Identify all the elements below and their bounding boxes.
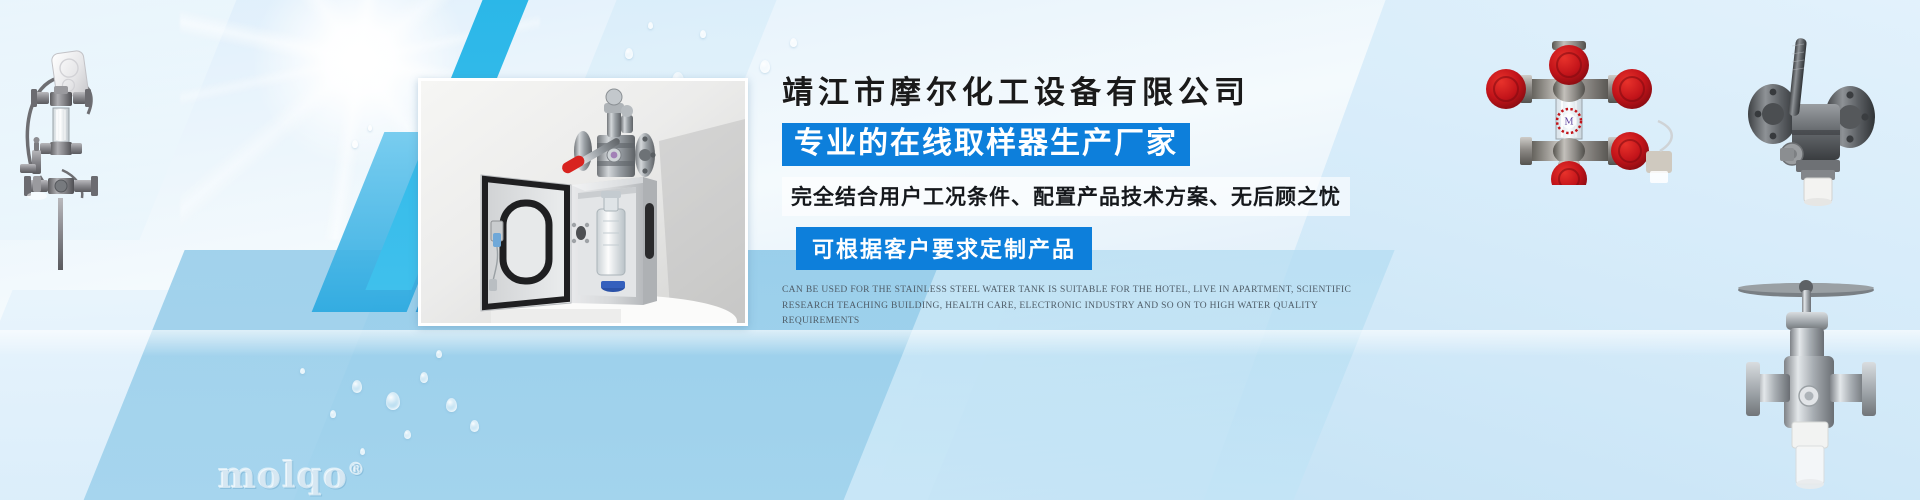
right-valve-gate-image bbox=[1706, 258, 1916, 496]
right-valve-lever-image bbox=[1700, 22, 1915, 212]
pale-panel-lower-b bbox=[0, 330, 940, 500]
watermark-text: molqo bbox=[218, 455, 348, 497]
water-droplet bbox=[700, 30, 706, 38]
water-droplet bbox=[420, 372, 428, 383]
watermark-logo: molqo® bbox=[218, 455, 366, 497]
water-droplet bbox=[300, 368, 305, 374]
center-product-photo-image bbox=[421, 81, 745, 323]
banner-text-block: 靖江市摩尔化工设备有限公司 专业的在线取样器生产厂家 完全结合用户工况条件、配置… bbox=[782, 74, 1402, 329]
horizon-band bbox=[0, 330, 1920, 356]
company-name: 靖江市摩尔化工设备有限公司 bbox=[782, 74, 1402, 113]
water-droplet bbox=[368, 125, 372, 131]
water-droplet bbox=[625, 48, 633, 59]
water-droplet bbox=[470, 420, 479, 432]
water-droplet bbox=[404, 430, 411, 439]
water-droplet bbox=[352, 140, 358, 148]
center-product-photo bbox=[418, 78, 748, 326]
water-droplet bbox=[436, 350, 442, 358]
fineprint-description: CAN BE USED FOR THE STAINLESS STEEL WATE… bbox=[782, 283, 1382, 329]
left-product-image bbox=[10, 30, 200, 330]
svg-text:M: M bbox=[1564, 118, 1573, 128]
water-droplet bbox=[648, 22, 653, 29]
water-droplet bbox=[760, 60, 770, 73]
registered-mark-icon: ® bbox=[348, 460, 366, 480]
water-droplet bbox=[446, 398, 457, 412]
subheadline-text: 完全结合用户工况条件、配置产品技术方案、无后顾之忧 bbox=[782, 177, 1350, 216]
tagline-text: 可根据客户要求定制产品 bbox=[796, 227, 1092, 270]
water-droplet bbox=[360, 448, 365, 455]
promo-banner: 靖江市摩尔化工设备有限公司 专业的在线取样器生产厂家 完全结合用户工况条件、配置… bbox=[0, 0, 1920, 500]
water-droplet bbox=[386, 392, 400, 410]
headline-text: 专业的在线取样器生产厂家 bbox=[782, 123, 1190, 167]
water-droplet bbox=[352, 380, 362, 393]
water-droplet bbox=[330, 410, 336, 418]
water-droplet bbox=[790, 38, 797, 47]
right-valve-cross-image: M bbox=[1470, 25, 1720, 185]
